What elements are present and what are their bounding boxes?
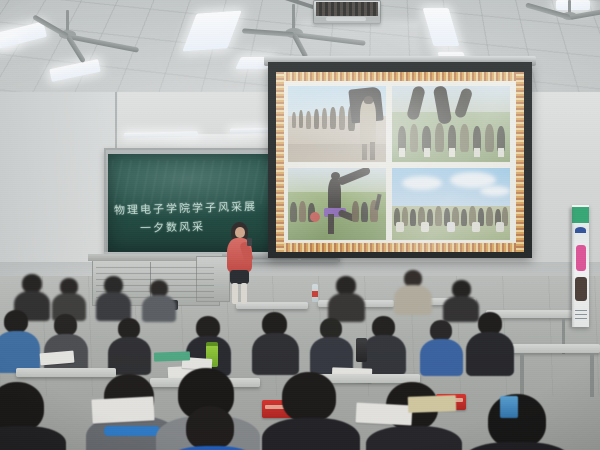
ceiling-fan <box>46 10 166 50</box>
slide-photo-top-left <box>288 86 386 162</box>
thermos-lid <box>206 342 218 346</box>
slide-border-right <box>516 72 524 252</box>
chalkboard-line-2: 一夕数风采 <box>140 218 205 236</box>
slide-border-top <box>276 72 524 81</box>
loose-papers-front <box>356 403 413 426</box>
presenter-face <box>235 227 245 238</box>
wall-poster <box>572 205 589 327</box>
poster-pink-figure <box>576 245 586 271</box>
poster-green-band <box>572 207 589 223</box>
slide-photo-top-right <box>392 86 510 162</box>
presenter-remote <box>247 238 252 246</box>
poster-footer-text <box>575 307 587 319</box>
poster-blue-accent <box>575 227 586 233</box>
poster-shadow <box>569 208 573 328</box>
blue-cup-front <box>500 396 518 418</box>
classroom-photo: 物理电子学院学子风采展 一夕数风采 <box>0 0 600 450</box>
slide-photo-bottom-right <box>392 168 510 240</box>
ceiling-fan <box>528 0 600 34</box>
slide-border-left <box>276 72 284 252</box>
open-book-front <box>91 396 154 423</box>
poster-dark-figure <box>575 277 587 301</box>
slide-photo-bottom-left <box>288 168 386 240</box>
notebook-front <box>408 395 457 413</box>
slide-border-bottom <box>276 243 524 252</box>
projection-screen-canvas <box>276 72 524 252</box>
